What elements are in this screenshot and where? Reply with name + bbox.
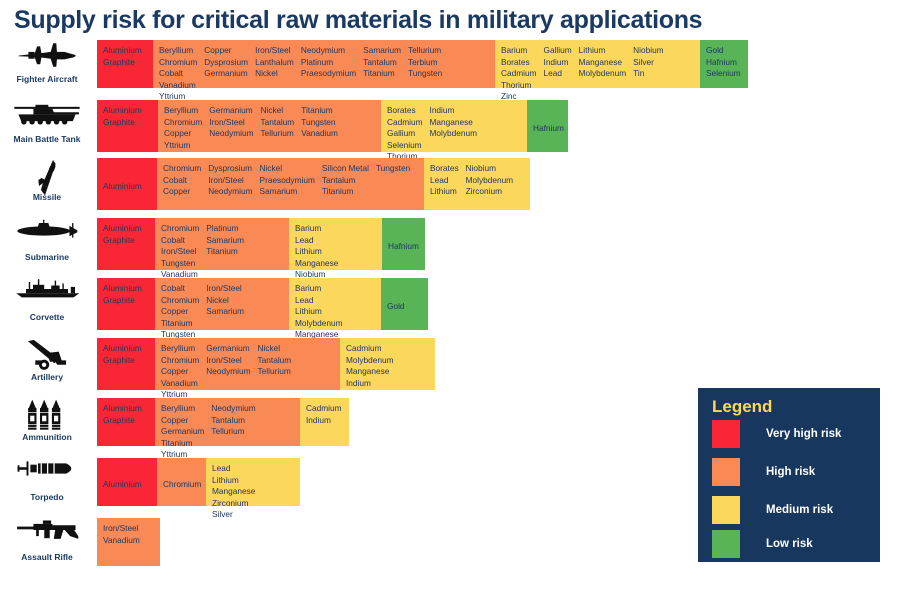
material-label: Aluminium bbox=[103, 45, 142, 57]
row-header-main-battle-tank: Main Battle Tank bbox=[0, 100, 94, 144]
material-column: DysprosiumIron/SteelNeodymium bbox=[208, 163, 259, 198]
risk-segment-medium: CadmiumIndium bbox=[300, 398, 349, 446]
material-label: Copper bbox=[161, 415, 204, 427]
material-label: Lithium bbox=[295, 306, 322, 318]
material-label: Iron/Steel bbox=[103, 523, 140, 535]
row-label: Torpedo bbox=[0, 492, 94, 502]
material-label: Neodymium bbox=[211, 403, 255, 415]
material-label: Aluminium bbox=[103, 105, 142, 117]
material-label: Titanium bbox=[301, 105, 338, 117]
material-label: Iron/Steel bbox=[255, 45, 294, 57]
risk-segment-low: Hafnium bbox=[382, 218, 425, 270]
row-label: Corvette bbox=[0, 312, 94, 322]
material-label: Molybdenum bbox=[430, 128, 478, 140]
legend-label: Medium risk bbox=[766, 504, 833, 516]
material-column: Iron/SteelLanthalumNickel bbox=[255, 45, 301, 80]
material-column: PlatinumSamariumTitanium bbox=[206, 223, 251, 258]
material-label: Platinum bbox=[301, 57, 356, 69]
risk-segment-high: CobaltChromiumCopperIron/SteelNickelSama… bbox=[155, 278, 289, 330]
material-column: AluminiumGraphite bbox=[103, 403, 149, 426]
material-label: Iron/Steel bbox=[161, 246, 199, 258]
material-column: Chromium bbox=[163, 479, 208, 491]
material-label: Copper bbox=[163, 186, 201, 198]
risk-bar: AluminiumGraphiteChromiumCobaltIron/Stee… bbox=[97, 218, 425, 270]
material-label: Neodymium bbox=[208, 186, 252, 198]
material-column: Hafnium bbox=[533, 123, 571, 135]
material-label: Cobalt bbox=[161, 235, 199, 247]
material-column: SamariumTantalumTitanium bbox=[363, 45, 408, 80]
material-label: Nickel bbox=[261, 105, 295, 117]
material-label: Hafnium bbox=[533, 123, 564, 135]
material-label: Lead bbox=[295, 235, 322, 247]
material-label: Germanium bbox=[206, 343, 250, 355]
risk-segment-medium: CadmiumMolybdenumManganeseIndium bbox=[340, 338, 435, 390]
torpedo-icon bbox=[0, 458, 94, 490]
material-column: BerylliumChromiumCobalt bbox=[159, 45, 204, 80]
material-label: Tantalum bbox=[258, 355, 292, 367]
risk-segment-medium: BoratesLeadLithiumNiobiumMolybdenumZirco… bbox=[424, 158, 530, 210]
material-column: Aluminium bbox=[103, 181, 149, 193]
material-label: Niobium bbox=[466, 163, 514, 175]
risk-segment-very-high: Aluminium bbox=[97, 458, 157, 506]
material-column: GermaniumIron/SteelNeodymium bbox=[206, 343, 257, 378]
material-label: Aluminium bbox=[103, 343, 142, 355]
row-label: Missile bbox=[0, 192, 94, 202]
material-column: NeodymiumTantalumTellurium bbox=[211, 403, 262, 438]
material-label: Gallium bbox=[387, 128, 423, 140]
risk-segment-very-high: AluminiumGraphite bbox=[97, 100, 158, 152]
material-label: Titanium bbox=[322, 186, 369, 198]
material-label: Nickel bbox=[206, 295, 244, 307]
risk-segment-medium: BariumLeadLithiumManganeseNiobiumSilver bbox=[289, 218, 382, 270]
material-label: Neodymium bbox=[206, 366, 250, 378]
material-column: CopperDysprosiumGermanium bbox=[204, 45, 255, 80]
material-column: AluminiumGraphite bbox=[103, 223, 149, 246]
risk-bar: AluminiumChromiumLeadLithiumManganeseZir… bbox=[97, 458, 300, 506]
legend-panel: Legend Very high riskHigh riskMedium ris… bbox=[698, 388, 880, 562]
material-label: Tungsten bbox=[408, 68, 442, 80]
risk-segment-high: BerylliumChromiumCobaltCopperDysprosiumG… bbox=[153, 40, 495, 88]
risk-segment-low: GoldHafniumSelenium bbox=[700, 40, 748, 88]
material-label: Hafnium bbox=[388, 241, 419, 253]
matrix-row: ArtilleryAluminiumGraphiteBerylliumChrom… bbox=[0, 338, 903, 390]
material-label: Barium bbox=[295, 283, 322, 295]
ammunition-icon bbox=[0, 398, 94, 430]
material-column: BerylliumChromiumCopper bbox=[164, 105, 209, 140]
row-label: Artillery bbox=[0, 372, 94, 382]
row-header-ammunition: Ammunition bbox=[0, 398, 94, 442]
material-label: Tellurium bbox=[261, 128, 295, 140]
material-column: TitaniumTungstenVanadium bbox=[301, 105, 345, 140]
material-label: Terbium bbox=[408, 57, 442, 69]
row-header-artillery: Artillery bbox=[0, 338, 94, 382]
risk-segment-medium: BoratesCadmiumGalliumIndiumManganeseMoly… bbox=[381, 100, 527, 152]
material-column: BariumLeadLithium bbox=[295, 223, 329, 258]
fighter-aircraft-icon bbox=[0, 40, 94, 72]
material-label: Lithium bbox=[295, 246, 322, 258]
material-column: NickelPraesodymiumSamarium bbox=[260, 163, 322, 198]
material-label: Tin bbox=[633, 68, 663, 80]
material-label: Graphite bbox=[103, 117, 142, 129]
material-column: LeadLithiumManganese bbox=[212, 463, 262, 498]
legend-item: Very high risk bbox=[712, 420, 841, 448]
risk-bar: Iron/SteelVanadium bbox=[97, 518, 160, 566]
material-label: Graphite bbox=[103, 57, 142, 69]
material-label: Zirconium bbox=[466, 186, 514, 198]
material-column: GalliumIndiumLead bbox=[544, 45, 579, 80]
material-column: Iron/SteelNickelSamarium bbox=[206, 283, 251, 318]
material-column: BariumLeadLithium bbox=[295, 283, 329, 318]
material-label: Samarium bbox=[206, 306, 244, 318]
material-label: Tellurium bbox=[408, 45, 442, 57]
material-label: Tungsten bbox=[301, 117, 338, 129]
material-label: Dysprosium bbox=[208, 163, 252, 175]
risk-segment-very-high: AluminiumGraphite bbox=[97, 218, 155, 270]
material-label: Yttrium bbox=[164, 140, 190, 152]
material-column: BerylliumChromiumCopper bbox=[161, 343, 206, 378]
material-column: NeodymiumPlatinumPraesodymium bbox=[301, 45, 363, 80]
material-label: Nickel bbox=[258, 343, 292, 355]
material-label: Indium bbox=[430, 105, 478, 117]
legend-label: Low risk bbox=[766, 538, 813, 550]
material-column: Iron/SteelVanadium bbox=[103, 523, 147, 546]
material-label: Manganese bbox=[212, 486, 255, 498]
material-label: Aluminium bbox=[103, 479, 142, 491]
material-label: Lithium bbox=[212, 475, 255, 487]
material-label: Neodymium bbox=[301, 45, 356, 57]
material-column: NickelTantalumTellurium bbox=[261, 105, 302, 140]
material-column: LithiumManganeseMolybdenum bbox=[579, 45, 634, 80]
risk-segment-very-high: Aluminium bbox=[97, 158, 157, 210]
material-label: Beryllium bbox=[159, 45, 197, 57]
material-label: Manganese bbox=[295, 258, 338, 270]
material-column: Indium bbox=[346, 378, 378, 390]
material-label: Chromium bbox=[161, 223, 199, 235]
material-column: Aluminium bbox=[103, 479, 149, 491]
legend-item: Low risk bbox=[712, 530, 813, 558]
matrix-row: Main Battle TankAluminiumGraphiteBerylli… bbox=[0, 100, 903, 152]
material-column: BariumBoratesCadmium bbox=[501, 45, 544, 80]
material-label: Niobium bbox=[633, 45, 663, 57]
material-label: Molybdenum bbox=[295, 318, 343, 330]
material-column: CadmiumMolybdenumManganese bbox=[346, 343, 401, 378]
material-label: Chromium bbox=[164, 117, 202, 129]
risk-segment-very-high: AluminiumGraphite bbox=[97, 40, 153, 88]
row-header-assault-rifle: Assault Rifle bbox=[0, 518, 94, 562]
material-label: Tantalum bbox=[322, 175, 369, 187]
legend-swatch-low bbox=[712, 530, 740, 558]
material-column: AluminiumGraphite bbox=[103, 283, 149, 306]
legend-item: Medium risk bbox=[712, 496, 833, 524]
row-header-submarine: Submarine bbox=[0, 218, 94, 262]
material-label: Selenium bbox=[706, 68, 741, 80]
row-label: Assault Rifle bbox=[0, 552, 94, 562]
material-label: Selenium bbox=[387, 140, 422, 152]
material-label: Platinum bbox=[206, 223, 244, 235]
material-label: Tungsten bbox=[376, 163, 410, 175]
row-label: Ammunition bbox=[0, 432, 94, 442]
risk-segment-high: BerylliumChromiumCopperGermaniumIron/Ste… bbox=[155, 338, 340, 390]
material-label: Cadmium bbox=[346, 343, 394, 355]
material-label: Cobalt bbox=[159, 68, 197, 80]
risk-bar: AluminiumGraphiteBerylliumChromiumCobalt… bbox=[97, 40, 748, 88]
risk-segment-high: Chromium bbox=[157, 458, 206, 506]
row-header-torpedo: Torpedo bbox=[0, 458, 94, 502]
material-label: Vanadium bbox=[159, 80, 196, 92]
row-label: Submarine bbox=[0, 252, 94, 262]
material-label: Chromium bbox=[163, 479, 201, 491]
material-label: Beryllium bbox=[164, 105, 202, 117]
legend-title: Legend bbox=[712, 397, 772, 417]
material-label: Manganese bbox=[346, 366, 394, 378]
risk-bar: AluminiumGraphiteBerylliumChromiumCopper… bbox=[97, 338, 435, 390]
risk-segment-high: Iron/SteelVanadium bbox=[97, 518, 160, 566]
material-label: Copper bbox=[164, 128, 202, 140]
material-label: Molybdenum bbox=[579, 68, 627, 80]
material-label: Hafnium bbox=[706, 57, 741, 69]
material-label: Cadmium bbox=[387, 117, 423, 129]
risk-segment-medium: LeadLithiumManganeseZirconiumSilver bbox=[206, 458, 300, 506]
material-label: Thorium bbox=[501, 80, 537, 92]
matrix-row: SubmarineAluminiumGraphiteChromiumCobalt… bbox=[0, 218, 903, 270]
risk-bar: AluminiumChromiumCobaltCopperDysprosiumI… bbox=[97, 158, 530, 210]
material-column: NiobiumMolybdenumZirconium bbox=[466, 163, 521, 198]
material-label: Graphite bbox=[103, 295, 142, 307]
material-column: Yttrium bbox=[164, 140, 197, 152]
material-label: Chromium bbox=[161, 355, 199, 367]
material-label: Iron/Steel bbox=[208, 175, 252, 187]
material-label: Tantalum bbox=[261, 117, 295, 129]
row-header-missile: Missile bbox=[0, 158, 94, 202]
material-column: GermaniumIron/SteelNeodymium bbox=[209, 105, 260, 140]
material-label: Praesodymium bbox=[260, 175, 315, 187]
risk-segment-very-high: AluminiumGraphite bbox=[97, 398, 155, 446]
material-label: Iron/Steel bbox=[209, 117, 253, 129]
submarine-icon bbox=[0, 218, 94, 250]
material-label: Cobalt bbox=[161, 283, 199, 295]
material-label: Graphite bbox=[103, 235, 142, 247]
material-label: Gold bbox=[706, 45, 741, 57]
material-column: NiobiumSilverTin bbox=[633, 45, 670, 80]
material-label: Gold bbox=[387, 301, 405, 313]
material-label: Gallium bbox=[544, 45, 572, 57]
material-label: Copper bbox=[161, 306, 199, 318]
material-column: Gold bbox=[387, 301, 412, 313]
material-label: Borates bbox=[501, 57, 537, 69]
material-column: NickelTantalumTellurium bbox=[258, 343, 299, 378]
missile-icon bbox=[0, 158, 94, 190]
material-label: Aluminium bbox=[103, 223, 142, 235]
material-label: Silicon Metal bbox=[322, 163, 369, 175]
material-label: Vanadium bbox=[301, 128, 338, 140]
material-label: Chromium bbox=[163, 163, 201, 175]
material-column: BoratesLeadLithium bbox=[430, 163, 466, 198]
material-label: Tungsten bbox=[161, 258, 198, 270]
material-label: Indium bbox=[544, 57, 572, 69]
legend-label: Very high risk bbox=[766, 428, 841, 440]
matrix-row: MissileAluminiumChromiumCobaltCopperDysp… bbox=[0, 158, 903, 210]
material-label: Iron/Steel bbox=[206, 283, 244, 295]
risk-segment-very-high: AluminiumGraphite bbox=[97, 278, 155, 330]
material-label: Copper bbox=[204, 45, 248, 57]
material-label: Barium bbox=[501, 45, 537, 57]
material-column: BerylliumCopperGermanium bbox=[161, 403, 211, 438]
material-label: Germanium bbox=[209, 105, 253, 117]
material-column: ChromiumCobaltIron/Steel bbox=[161, 223, 206, 258]
material-label: Dysprosium bbox=[204, 57, 248, 69]
matrix-row: CorvetteAluminiumGraphiteCobaltChromiumC… bbox=[0, 278, 903, 330]
material-label: Lithium bbox=[579, 45, 627, 57]
legend-item: High risk bbox=[712, 458, 815, 486]
material-label: Manganese bbox=[579, 57, 627, 69]
material-label: Chromium bbox=[159, 57, 197, 69]
material-label: Lithium bbox=[430, 186, 459, 198]
material-label: Indium bbox=[306, 415, 342, 427]
material-label: Nickel bbox=[255, 68, 294, 80]
risk-segment-high: ChromiumCobaltCopperDysprosiumIron/Steel… bbox=[157, 158, 424, 210]
material-label: Lead bbox=[295, 295, 322, 307]
material-column: CadmiumIndium bbox=[306, 403, 349, 426]
material-label: Zirconium bbox=[212, 498, 248, 510]
material-column: BoratesCadmiumGallium bbox=[387, 105, 430, 140]
risk-bar: AluminiumGraphiteBerylliumChromiumCopper… bbox=[97, 100, 568, 152]
material-label: Borates bbox=[430, 163, 459, 175]
material-label: Lead bbox=[544, 68, 572, 80]
risk-segment-high: BerylliumCopperGermaniumNeodymiumTantalu… bbox=[155, 398, 300, 446]
material-label: Molybdenum bbox=[466, 175, 514, 187]
matrix-row: Fighter AircraftAluminiumGraphiteBerylli… bbox=[0, 40, 903, 88]
material-label: Beryllium bbox=[161, 343, 199, 355]
material-label: Lead bbox=[430, 175, 459, 187]
material-column: Tungsten bbox=[376, 163, 417, 198]
material-column: TelluriumTerbiumTungsten bbox=[408, 45, 449, 80]
material-label: Cadmium bbox=[501, 68, 537, 80]
material-label: Tantalum bbox=[363, 57, 401, 69]
material-label: Aluminium bbox=[103, 181, 142, 193]
material-column: ChromiumCobaltCopper bbox=[163, 163, 208, 198]
material-column: AluminiumGraphite bbox=[103, 343, 149, 366]
risk-bar: AluminiumGraphiteCobaltChromiumCopperIro… bbox=[97, 278, 428, 330]
material-label: Samarium bbox=[363, 45, 401, 57]
material-label: Titanium bbox=[161, 318, 195, 330]
material-label: Tellurium bbox=[258, 366, 292, 378]
material-label: Germanium bbox=[204, 68, 248, 80]
row-label: Fighter Aircraft bbox=[0, 74, 94, 84]
main-battle-tank-icon bbox=[0, 100, 94, 132]
row-header-corvette: Corvette bbox=[0, 278, 94, 322]
material-label: Copper bbox=[161, 366, 199, 378]
material-label: Beryllium bbox=[161, 403, 204, 415]
material-label: Graphite bbox=[103, 355, 142, 367]
material-label: Molybdenum bbox=[346, 355, 394, 367]
risk-segment-very-high: AluminiumGraphite bbox=[97, 338, 155, 390]
legend-swatch-very-high bbox=[712, 420, 740, 448]
page-title: Supply risk for critical raw materials i… bbox=[14, 6, 702, 35]
risk-segment-medium: BariumLeadLithiumMolybdenumManganese bbox=[289, 278, 381, 330]
risk-segment-medium: BariumBoratesCadmiumGalliumIndiumLeadLit… bbox=[495, 40, 700, 88]
material-label: Praesodymium bbox=[301, 68, 356, 80]
material-label: Silver bbox=[633, 57, 663, 69]
material-label: Chromium bbox=[161, 295, 199, 307]
risk-segment-high: ChromiumCobaltIron/SteelPlatinumSamarium… bbox=[155, 218, 289, 270]
material-label: Samarium bbox=[260, 186, 315, 198]
material-column: GoldHafniumSelenium bbox=[706, 45, 748, 80]
material-label: Neodymium bbox=[209, 128, 253, 140]
material-label: Aluminium bbox=[103, 403, 142, 415]
material-label: Lanthalum bbox=[255, 57, 294, 69]
material-label: Germanium bbox=[161, 426, 204, 438]
material-label: Cobalt bbox=[163, 175, 201, 187]
risk-segment-low: Gold bbox=[381, 278, 428, 330]
material-label: Graphite bbox=[103, 415, 142, 427]
material-column: Silicon MetalTantalumTitanium bbox=[322, 163, 376, 198]
material-label: Tellurium bbox=[211, 426, 255, 438]
material-label: Iron/Steel bbox=[206, 355, 250, 367]
material-label: Aluminium bbox=[103, 283, 142, 295]
material-label: Titanium bbox=[363, 68, 401, 80]
assault-rifle-icon bbox=[0, 518, 94, 550]
material-label: Vanadium bbox=[161, 378, 198, 390]
material-label: Manganese bbox=[430, 117, 478, 129]
corvette-icon bbox=[0, 278, 94, 310]
row-label: Main Battle Tank bbox=[0, 134, 94, 144]
risk-bar: AluminiumGraphiteBerylliumCopperGermaniu… bbox=[97, 398, 349, 446]
legend-swatch-high bbox=[712, 458, 740, 486]
material-label: Borates bbox=[387, 105, 423, 117]
material-column: Hafnium bbox=[388, 241, 426, 253]
material-label: Tantalum bbox=[211, 415, 255, 427]
risk-segment-low: Hafnium bbox=[527, 100, 568, 152]
material-column: AluminiumGraphite bbox=[103, 45, 149, 68]
artillery-icon bbox=[0, 338, 94, 370]
row-header-fighter-aircraft: Fighter Aircraft bbox=[0, 40, 94, 84]
legend-swatch-medium bbox=[712, 496, 740, 524]
material-label: Nickel bbox=[260, 163, 315, 175]
material-column: CobaltChromiumCopper bbox=[161, 283, 206, 318]
material-label: Barium bbox=[295, 223, 322, 235]
material-label: Lead bbox=[212, 463, 255, 475]
material-label: Titanium bbox=[206, 246, 244, 258]
material-label: Cadmium bbox=[306, 403, 342, 415]
material-label: Titanium bbox=[161, 438, 193, 450]
material-label: Indium bbox=[346, 378, 371, 390]
material-column: AluminiumGraphite bbox=[103, 105, 149, 128]
material-column: IndiumManganeseMolybdenum bbox=[430, 105, 485, 140]
risk-segment-high: BerylliumChromiumCopperGermaniumIron/Ste… bbox=[158, 100, 381, 152]
material-label: Samarium bbox=[206, 235, 244, 247]
material-label: Vanadium bbox=[103, 535, 140, 547]
legend-label: High risk bbox=[766, 466, 815, 478]
